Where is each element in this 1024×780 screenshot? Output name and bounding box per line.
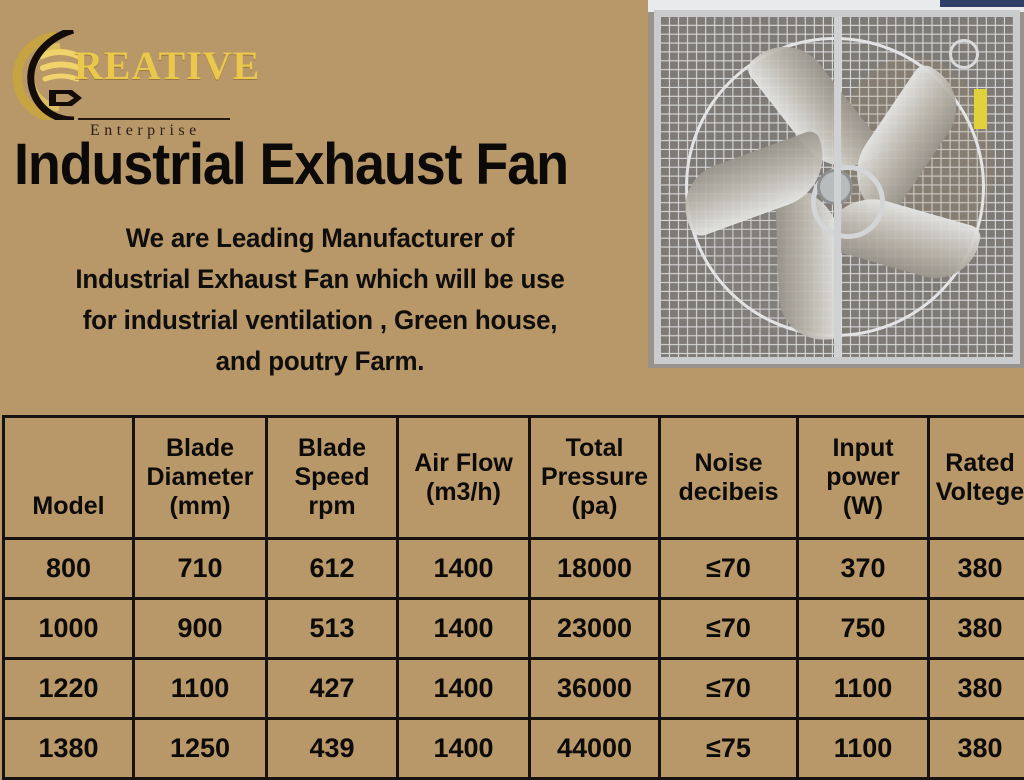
col-header-blade-diameter: Blade Diameter (mm)	[134, 417, 267, 539]
cell-rated-voltage: 380	[929, 719, 1024, 779]
col-header-noise: Noise decibeis	[660, 417, 798, 539]
cell-blade-speed: 439	[267, 719, 398, 779]
cell-total-pressure: 44000	[530, 719, 660, 779]
cell-input-power: 750	[798, 599, 929, 659]
cell-air-flow: 1400	[398, 539, 530, 599]
brand-logo: REATIVE Enterprise	[12, 30, 242, 122]
cell-noise: ≤70	[660, 539, 798, 599]
cell-noise: ≤70	[660, 599, 798, 659]
cell-blade-speed: 612	[267, 539, 398, 599]
cell-total-pressure: 36000	[530, 659, 660, 719]
col-header-input-power: Input power (W)	[798, 417, 929, 539]
cell-blade-diameter: 1100	[134, 659, 267, 719]
cell-blade-speed: 513	[267, 599, 398, 659]
table-row: 1380 1250 439 1400 44000 ≤75 1100 380	[4, 719, 1024, 779]
cell-model: 1220	[4, 659, 134, 719]
col-header-model: Model	[4, 417, 134, 539]
fan-pulley-icon	[811, 165, 885, 239]
product-photo	[648, 0, 1024, 368]
warning-label-tag	[974, 89, 987, 129]
cell-total-pressure: 23000	[530, 599, 660, 659]
description-line: We are Leading Manufacturer of	[22, 218, 617, 259]
cell-rated-voltage: 380	[929, 659, 1024, 719]
cell-model: 1380	[4, 719, 134, 779]
photo-blue-strip	[940, 0, 1024, 7]
guard-center-bar	[834, 17, 841, 357]
cell-blade-diameter: 710	[134, 539, 267, 599]
brand-divider	[78, 118, 230, 120]
cell-total-pressure: 18000	[530, 539, 660, 599]
table-header-row: Model Blade Diameter (mm) Blade Speed rp…	[4, 417, 1024, 539]
col-header-rated-voltage: Rated Voltege	[929, 417, 1024, 539]
description-line: for industrial ventilation , Green house…	[22, 300, 617, 341]
col-header-air-flow: Air Flow (m3/h)	[398, 417, 530, 539]
cell-blade-speed: 427	[267, 659, 398, 719]
cell-input-power: 1100	[798, 659, 929, 719]
cell-blade-diameter: 1250	[134, 719, 267, 779]
cell-rated-voltage: 380	[929, 539, 1024, 599]
description-paragraph: We are Leading Manufacturer of Industria…	[22, 218, 617, 382]
cell-rated-voltage: 380	[929, 599, 1024, 659]
table-row: 800 710 612 1400 18000 ≤70 370 380	[4, 539, 1024, 599]
cell-noise: ≤75	[660, 719, 798, 779]
page-title: Industrial Exhaust Fan	[14, 134, 591, 196]
table-row: 1000 900 513 1400 23000 ≤70 750 380	[4, 599, 1024, 659]
cell-air-flow: 1400	[398, 599, 530, 659]
cell-input-power: 1100	[798, 719, 929, 779]
description-line: Industrial Exhaust Fan which will be use	[22, 259, 617, 300]
fan-housing-frame	[654, 10, 1020, 364]
cell-model: 1000	[4, 599, 134, 659]
brand-wordmark: REATIVE	[74, 46, 260, 86]
cell-model: 800	[4, 539, 134, 599]
table-row: 1220 1100 427 1400 36000 ≤70 1100 380	[4, 659, 1024, 719]
col-header-total-pressure: Total Pressure (pa)	[530, 417, 660, 539]
tensioner-knob-icon	[949, 39, 979, 69]
cell-input-power: 370	[798, 539, 929, 599]
description-line: and poutry Farm.	[22, 341, 617, 382]
col-header-blade-speed: Blade Speed rpm	[267, 417, 398, 539]
cell-air-flow: 1400	[398, 659, 530, 719]
cell-blade-diameter: 900	[134, 599, 267, 659]
specifications-table: Model Blade Diameter (mm) Blade Speed rp…	[2, 415, 1024, 780]
cell-noise: ≤70	[660, 659, 798, 719]
cell-air-flow: 1400	[398, 719, 530, 779]
